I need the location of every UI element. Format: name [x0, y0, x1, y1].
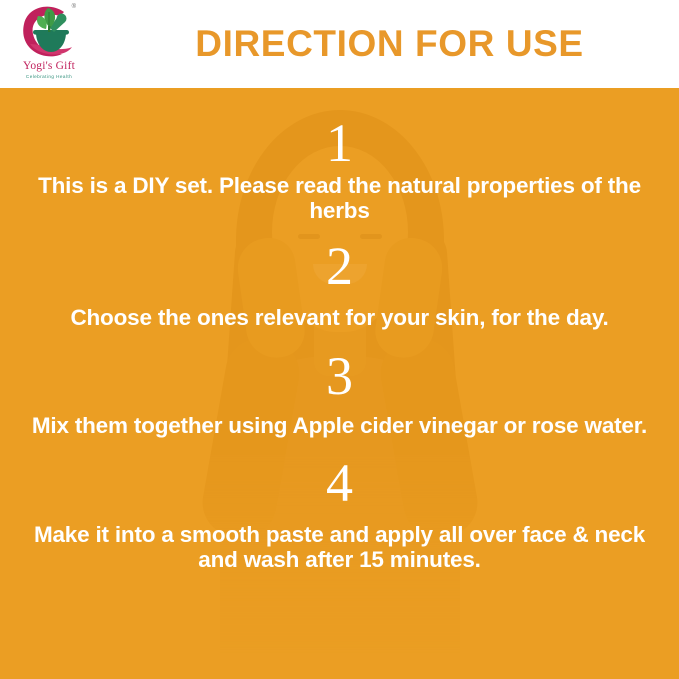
steps-list: 1 This is a DIY set. Please read the nat…	[0, 88, 679, 572]
step-item: 3 Mix them together using Apple cider vi…	[0, 349, 679, 438]
brand-logo: ® Yogi's Gift Celebrating Health	[10, 4, 88, 86]
step-item: 1 This is a DIY set. Please read the nat…	[0, 116, 679, 223]
step-number: 3	[0, 349, 679, 403]
logo-mark: ®	[20, 4, 78, 60]
page-title: DIRECTION FOR USE	[100, 0, 679, 88]
step-text: Mix them together using Apple cider vine…	[0, 413, 679, 438]
step-text: Make it into a smooth paste and apply al…	[0, 522, 679, 572]
step-number: 4	[0, 456, 679, 510]
step-number: 1	[0, 116, 679, 170]
direction-for-use-poster: ® Yogi's Gift Celebrating Health DIRECTI…	[0, 0, 679, 679]
brand-name: Yogi's Gift	[10, 61, 88, 73]
step-item: 2 Choose the ones relevant for your skin…	[0, 239, 679, 330]
step-number: 2	[0, 239, 679, 293]
step-item: 4 Make it into a smooth paste and apply …	[0, 456, 679, 572]
step-text: Choose the ones relevant for your skin, …	[0, 305, 679, 330]
registered-trademark-icon: ®	[72, 4, 76, 10]
poster-body: 1 This is a DIY set. Please read the nat…	[0, 88, 679, 679]
mortar-and-pestle-icon	[20, 4, 78, 60]
step-text: This is a DIY set. Please read the natur…	[0, 173, 679, 223]
brand-tagline: Celebrating Health	[10, 75, 88, 80]
poster-header: ® Yogi's Gift Celebrating Health DIRECTI…	[0, 0, 679, 88]
